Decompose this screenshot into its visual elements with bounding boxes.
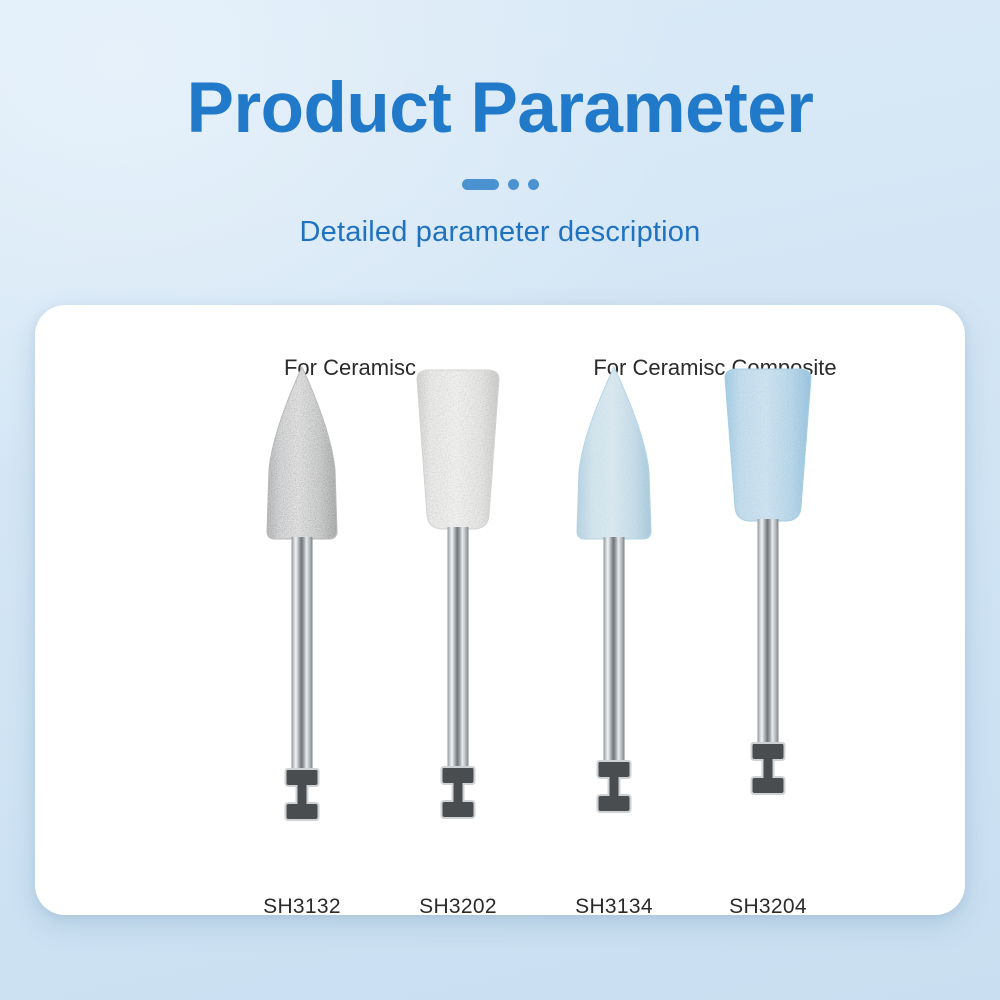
model-number-sh3204: SH3204 [729, 895, 807, 919]
bur-shank-sh3134 [604, 537, 625, 763]
product-item-sh3204[interactable]: SH3204 [683, 365, 853, 525]
page-subtitle: Detailed parameter description [0, 216, 1000, 249]
product-item-sh3202[interactable]: SH3202 [373, 365, 543, 535]
latch-end-icon [440, 765, 477, 821]
latch-end-icon [750, 741, 787, 797]
model-number-sh3134: SH3134 [575, 895, 653, 919]
latch-end-icon [284, 767, 321, 823]
product-item-sh3132[interactable]: SH3132 [217, 365, 387, 545]
bur-head-sh3134 [529, 365, 699, 545]
model-number-sh3132: SH3132 [263, 895, 341, 919]
flame-head-icon [559, 365, 669, 545]
product-item-sh3134[interactable]: SH3134 [529, 365, 699, 545]
bur-head-sh3204 [683, 365, 853, 525]
page-title: Product Parameter [0, 72, 1000, 147]
bur-shank-sh3132 [292, 537, 313, 771]
page-header: Product Parameter Detailed parameter des… [0, 0, 1000, 300]
dash-dot-dot-divider [0, 177, 1000, 191]
divider-dot-1 [508, 179, 519, 190]
latch-end-icon [596, 759, 633, 815]
divider-dot-2 [528, 179, 539, 190]
bur-shank-sh3204 [758, 519, 779, 745]
divider-bar [462, 179, 499, 190]
bur-shank-sh3202 [448, 527, 469, 769]
model-number-sh3202: SH3202 [419, 895, 497, 919]
product-card: For Ceramisc For Ceramisc,Composite [35, 305, 965, 915]
cup-head-icon [713, 365, 823, 525]
bur-head-sh3132 [217, 365, 387, 545]
flame-head-icon [247, 365, 357, 545]
bur-head-sh3202 [373, 365, 543, 535]
cup-head-icon [403, 365, 513, 535]
